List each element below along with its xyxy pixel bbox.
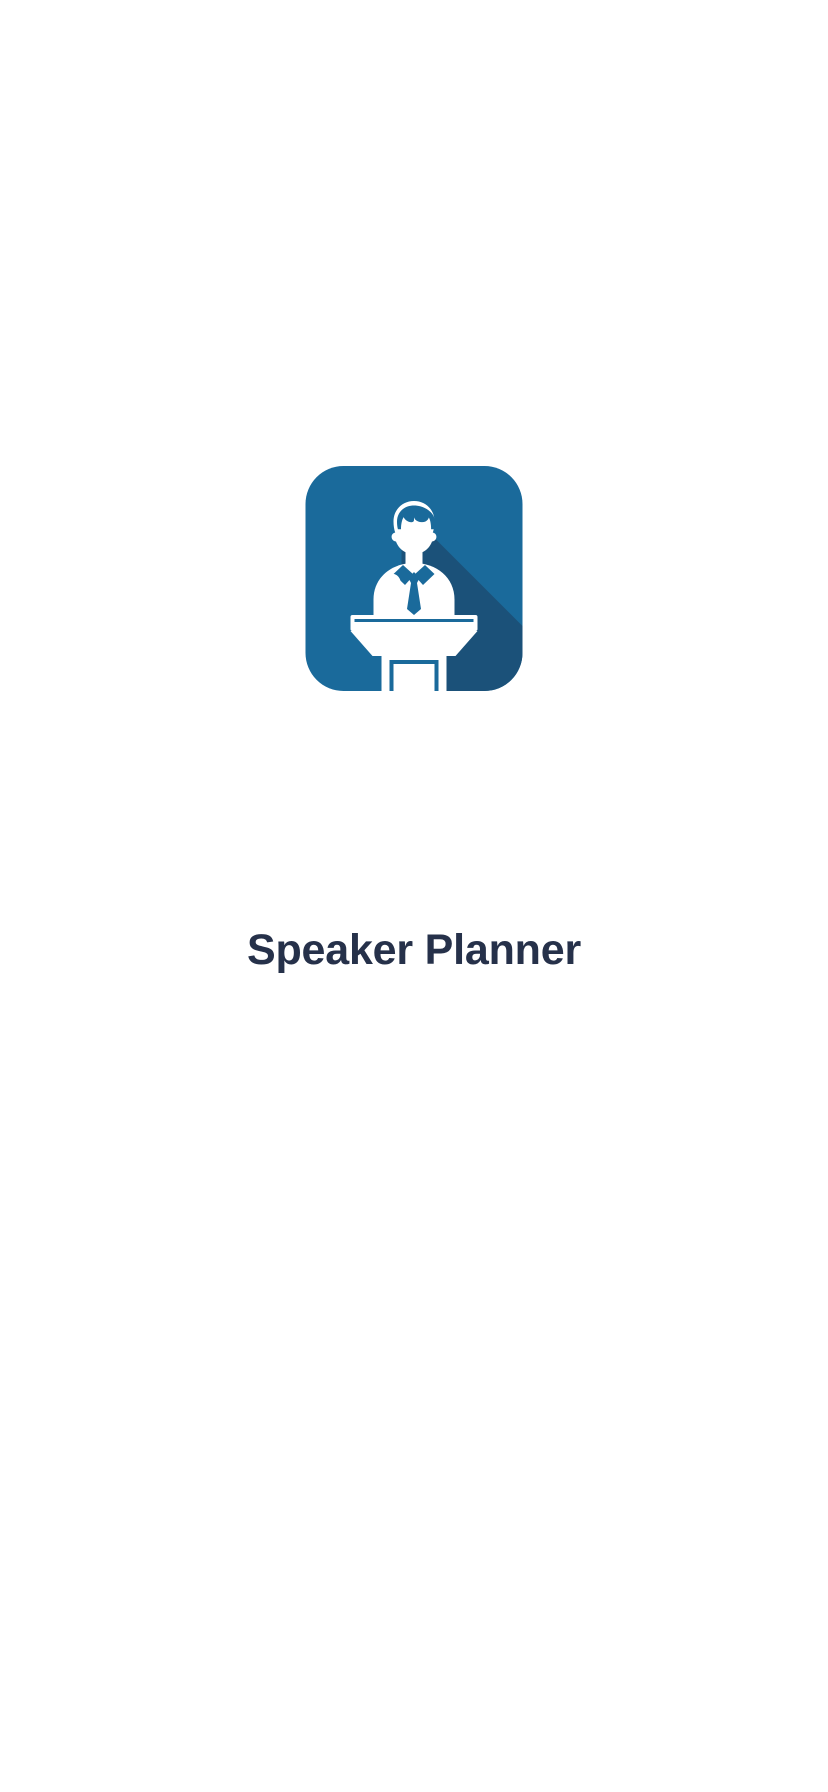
app-title: Speaker Planner — [0, 925, 828, 977]
splash-screen: Speaker Planner — [0, 0, 828, 1792]
speaker-podium-app-icon — [306, 466, 523, 691]
podium-top — [351, 615, 478, 631]
podium-panel — [394, 664, 435, 691]
app-icon-container[interactable] — [306, 466, 523, 691]
podium-top-groove — [355, 619, 474, 622]
